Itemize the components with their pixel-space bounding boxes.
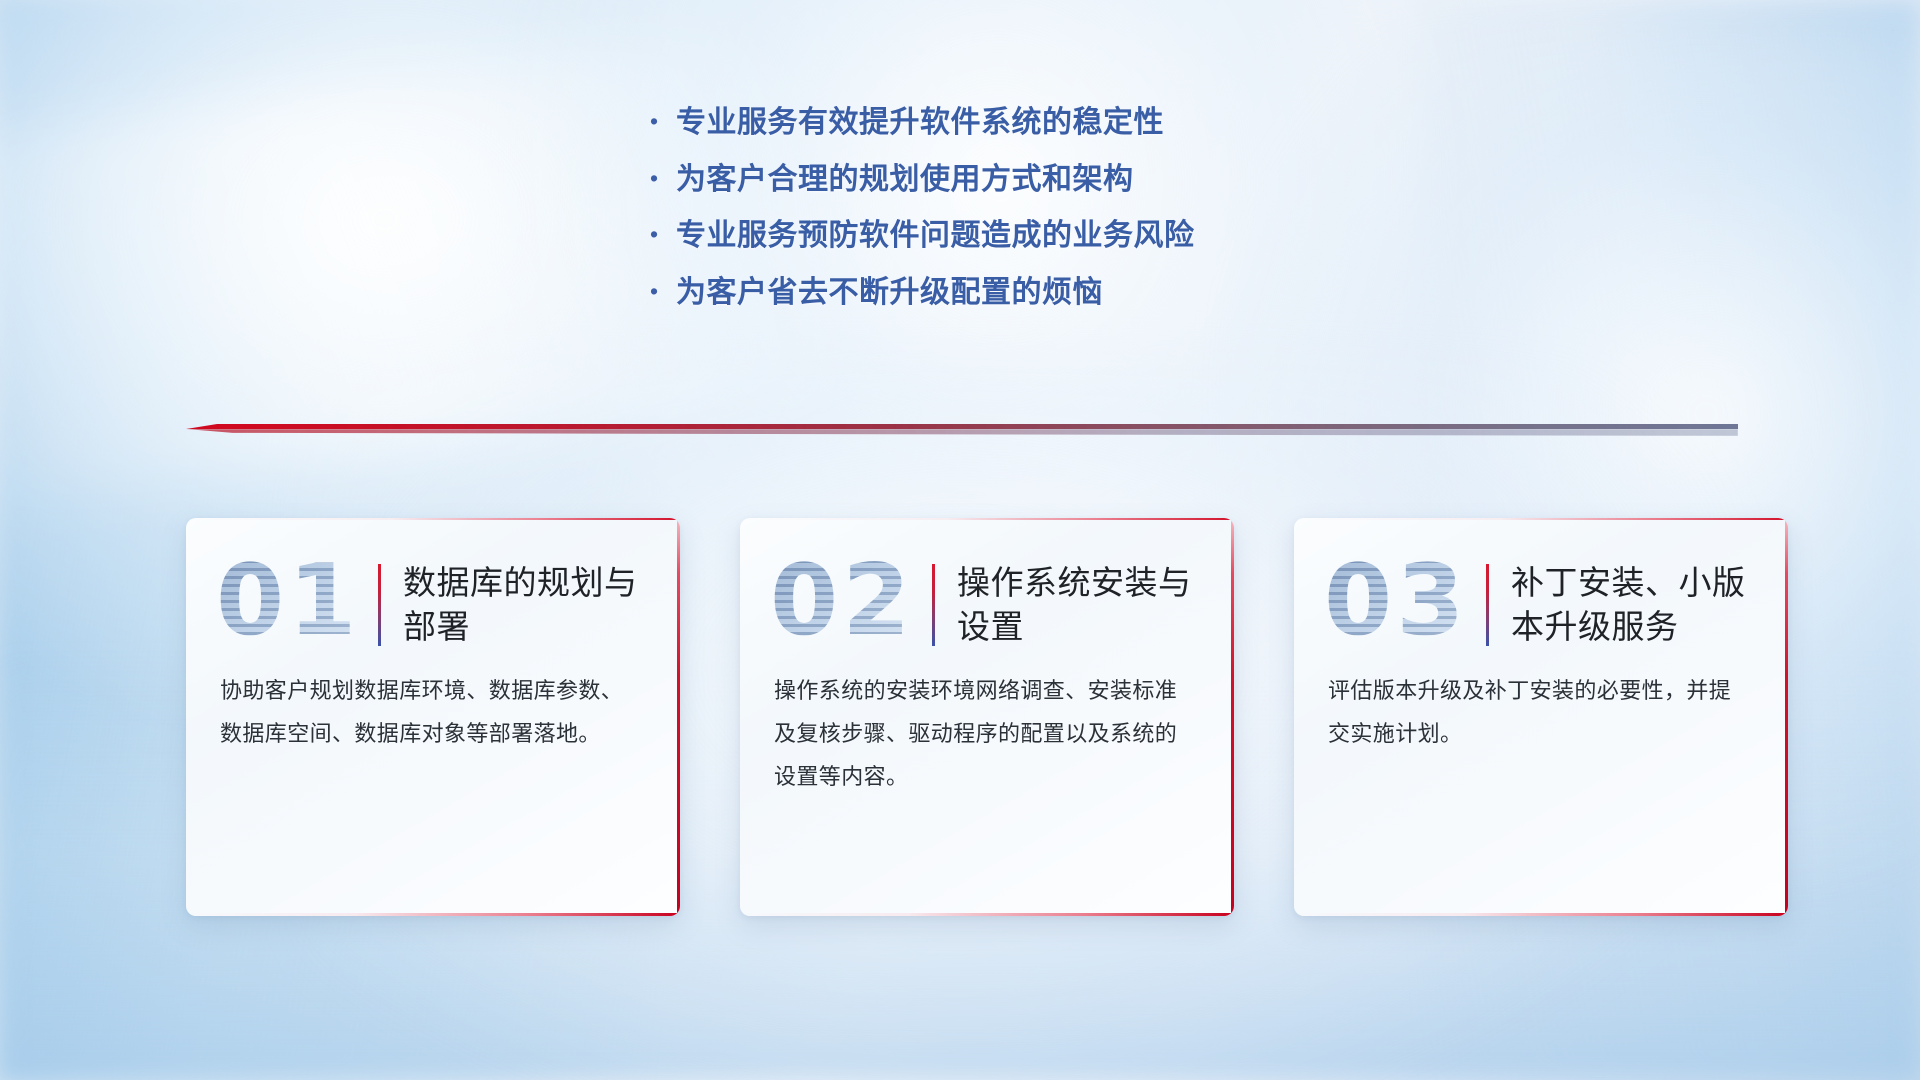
service-card-group: 01 数据库的规划与部署 协助客户规划数据库环境、数据库参数、数据库空间、数据库… <box>186 518 1788 916</box>
card-header: 01 数据库的规划与部署 <box>186 518 680 670</box>
list-item: • 专业服务预防软件问题造成的业务风险 <box>650 218 1195 255</box>
bullet-dot-icon: • <box>650 110 676 133</box>
card-bottom-accent <box>1294 913 1788 916</box>
bullet-text: 为客户合理的规划使用方式和架构 <box>676 162 1134 199</box>
card-header: 02 操作系统安装与设置 <box>740 518 1234 670</box>
card-body-text: 协助客户规划数据库环境、数据库参数、数据库空间、数据库对象等部署落地。 <box>186 670 680 756</box>
card-number-watermark: 02 <box>770 552 930 650</box>
card-body-text: 操作系统的安装环境网络调查、安装标准及复核步骤、驱动程序的配置以及系统的设置等内… <box>740 670 1234 799</box>
card-title: 操作系统安装与设置 <box>957 561 1208 648</box>
card-number-watermark: 03 <box>1324 552 1484 650</box>
card-bottom-accent <box>740 913 1234 916</box>
list-item: • 为客户合理的规划使用方式和架构 <box>650 162 1195 199</box>
card-body-text: 评估版本升级及补丁安装的必要性，并提交实施计划。 <box>1294 670 1788 756</box>
bullet-dot-icon: • <box>650 280 676 303</box>
service-card-03[interactable]: 03 补丁安装、小版本升级服务 评估版本升级及补丁安装的必要性，并提交实施计划。 <box>1294 518 1788 916</box>
card-divider-bar <box>1486 564 1489 646</box>
bullet-text: 为客户省去不断升级配置的烦恼 <box>676 275 1103 312</box>
card-bottom-accent <box>186 913 680 916</box>
card-title: 数据库的规划与部署 <box>403 561 654 648</box>
list-item: • 为客户省去不断升级配置的烦恼 <box>650 275 1195 312</box>
section-divider <box>186 424 1738 442</box>
card-header: 03 补丁安装、小版本升级服务 <box>1294 518 1788 670</box>
card-title: 补丁安装、小版本升级服务 <box>1511 561 1762 648</box>
service-card-02[interactable]: 02 操作系统安装与设置 操作系统的安装环境网络调查、安装标准及复核步骤、驱动程… <box>740 518 1234 916</box>
divider-top-stroke <box>186 424 1738 429</box>
service-card-01[interactable]: 01 数据库的规划与部署 协助客户规划数据库环境、数据库参数、数据库空间、数据库… <box>186 518 680 916</box>
card-divider-bar <box>378 564 381 646</box>
bullet-dot-icon: • <box>650 167 676 190</box>
divider-bottom-stroke <box>186 429 1738 436</box>
list-item: • 专业服务有效提升软件系统的稳定性 <box>650 105 1195 142</box>
benefits-bullet-list: • 专业服务有效提升软件系统的稳定性 • 为客户合理的规划使用方式和架构 • 专… <box>650 105 1195 311</box>
card-divider-bar <box>932 564 935 646</box>
card-number-watermark: 01 <box>216 552 376 650</box>
bullet-text: 专业服务预防软件问题造成的业务风险 <box>676 218 1195 255</box>
bullet-dot-icon: • <box>650 223 676 246</box>
bullet-text: 专业服务有效提升软件系统的稳定性 <box>676 105 1164 142</box>
